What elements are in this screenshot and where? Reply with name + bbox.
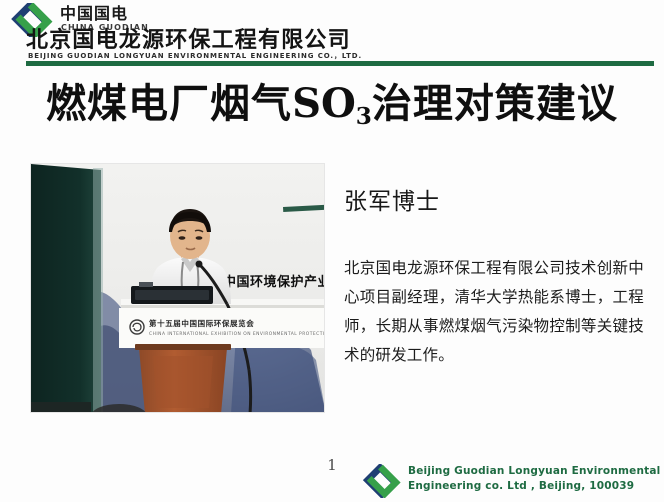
- guodian-footer-logo-icon: [360, 464, 402, 498]
- slide-header: 中国国电 CHINA GUODIAN 北京国电龙源环保工程有限公司 BEIJIN…: [0, 0, 664, 70]
- footer: Beijing Guodian Longyuan Environmental E…: [360, 462, 660, 500]
- title-formula: SO3: [292, 80, 372, 127]
- footer-line-1: Beijing Guodian Longyuan Environmental: [408, 464, 660, 479]
- title-part-1: 燃煤电厂烟气: [46, 81, 292, 127]
- footer-line-2: Engineering co. Ltd , Beijing, 100039: [408, 479, 660, 494]
- footer-company-address: Beijing Guodian Longyuan Environmental E…: [408, 464, 660, 494]
- company-name-en: BEIJING GUODIAN LONGYUAN ENVIRONMENTAL E…: [28, 51, 362, 61]
- brand-name-cn: 中国国电: [60, 5, 128, 23]
- svg-text:中国环境保护产业协会: 中国环境保护产业协会: [223, 274, 325, 290]
- speaker-bio: 北京国电龙源环保工程有限公司技术创新中心项目副经理，清华大学热能系博士，工程师，…: [344, 254, 644, 370]
- company-name-cn: 北京国电龙源环保工程有限公司: [26, 29, 351, 53]
- title-formula-subscript: 3: [356, 103, 372, 130]
- speaker-name: 张军博士: [344, 182, 440, 216]
- title-part-2: 治理对策建议: [372, 81, 618, 127]
- svg-text:第十五届中国国际环保展览会: 第十五届中国国际环保展览会: [149, 318, 254, 328]
- svg-text:CHINA INTERNATIONAL EXHIBITION: CHINA INTERNATIONAL EXHIBITION ON ENVIRO…: [149, 331, 325, 337]
- page-title: 燃煤电厂烟气SO3治理对策建议: [0, 78, 664, 136]
- header-divider-rule: [26, 61, 654, 66]
- title-formula-main: SO: [292, 80, 356, 127]
- speaker-photo: 中国环境保护产业协会: [30, 163, 325, 413]
